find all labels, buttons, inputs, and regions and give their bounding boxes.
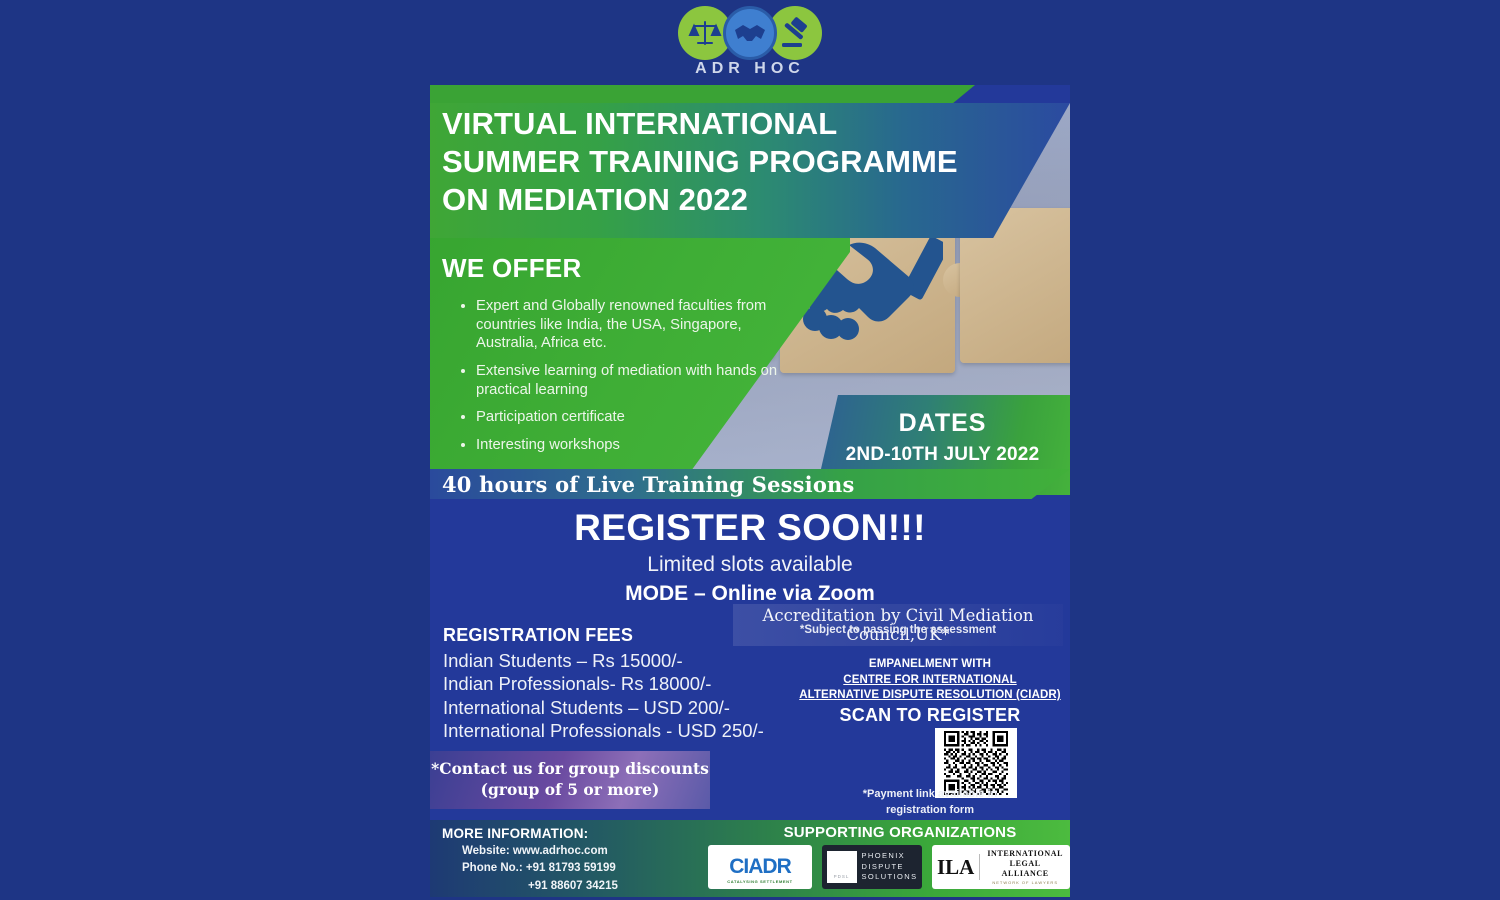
ciadr-tagline: CATALYSING SETTLEMENT <box>712 879 808 884</box>
empanelment-line-3: ALTERNATIVE DISPUTE RESOLUTION (CIADR) <box>790 688 1070 704</box>
dates-value: 2ND-10TH JULY 2022 <box>815 444 1070 466</box>
mode-text: MODE – Online via Zoom <box>430 582 1070 606</box>
discount-line-1: *Contact us for group discounts <box>430 759 710 780</box>
payment-note-line-2: registration form <box>790 803 1070 819</box>
fee-row: International Professionals - USD 250/- <box>443 719 803 742</box>
email-line[interactable]: E-mail: adrhocevents@gmail.com <box>462 895 722 897</box>
list-item: Interesting workshops <box>476 436 806 455</box>
title-line-3: ON MEDIATION 2022 <box>442 181 1042 219</box>
scan-to-register-heading: SCAN TO REGISTER <box>790 705 1070 726</box>
limited-slots-text: Limited slots available <box>430 553 1070 577</box>
fee-row: Indian Students – Rs 15000/- <box>443 649 803 672</box>
title-line-2: SUMMER TRAINING PROGRAMME <box>442 143 1042 181</box>
more-information-heading: MORE INFORMATION: <box>442 826 588 841</box>
pdsl-text: PDSL <box>834 874 850 883</box>
list-item: Extensive learning of mediation with han… <box>476 362 806 399</box>
phoenix-dispute-solutions-logo: PDSL PHOENIX DISPUTE SOLUTIONS <box>822 845 922 889</box>
offer-bullet-list: Expert and Globally renowned faculties f… <box>454 297 806 463</box>
ciadr-wordmark: CIADR <box>729 855 791 879</box>
divider <box>979 854 980 880</box>
ila-line-3: NETWORK OF LAWYERS <box>985 880 1065 885</box>
ila-wordmark: ILA <box>937 857 974 878</box>
list-item: Expert and Globally renowned faculties f… <box>476 297 806 353</box>
we-offer-heading: WE OFFER <box>442 253 582 284</box>
payment-link-note: *Payment link available in registration … <box>790 787 1070 819</box>
ciadr-logo: CIADR CATALYSING SETTLEMENT <box>708 845 812 889</box>
contact-details: Website: www.adrhoc.com Phone No.: +91 8… <box>462 843 722 897</box>
page-title: VIRTUAL INTERNATIONAL SUMMER TRAINING PR… <box>442 105 1042 218</box>
hours-banner-text: 40 hours of Live Training Sessions <box>442 472 855 497</box>
poster-body: VIRTUAL INTERNATIONAL SUMMER TRAINING PR… <box>430 85 1070 897</box>
group-discount-box: *Contact us for group discounts (group o… <box>430 751 710 809</box>
phoenix-line-3: SOLUTIONS <box>862 872 918 883</box>
fee-row: International Students – USD 200/- <box>443 696 803 719</box>
handshake-icon <box>723 6 777 60</box>
ila-line-2: LEGAL ALLIANCE <box>985 859 1065 879</box>
top-green-accent <box>430 85 975 103</box>
supporting-logos: CIADR CATALYSING SETTLEMENT PDSL PHOENIX… <box>708 845 1070 889</box>
pdsl-mark: PDSL <box>827 851 857 883</box>
logo-circles <box>676 4 824 62</box>
dates-heading: DATES <box>815 409 1070 438</box>
supporting-organizations-heading: SUPPORTING ORGANIZATIONS <box>730 824 1070 841</box>
phone-line-2: +91 88607 34215 <box>462 878 618 895</box>
list-item: Participation certificate <box>476 408 806 427</box>
ila-name-block: INTERNATIONAL LEGAL ALLIANCE NETWORK OF … <box>985 849 1065 885</box>
website-line[interactable]: Website: www.adrhoc.com <box>462 843 722 860</box>
empanelment-line-1: EMPANELMENT WITH <box>790 657 1070 673</box>
phoenix-wordmark: PHOENIX DISPUTE SOLUTIONS <box>862 851 918 884</box>
logo-wordmark: ADR HOC <box>676 60 824 78</box>
registration-fees-list: Indian Students – Rs 15000/- Indian Prof… <box>443 649 803 742</box>
phoenix-line-1: PHOENIX <box>862 851 918 862</box>
empanelment-line-2: CENTRE FOR INTERNATIONAL <box>790 673 1070 689</box>
register-headline: REGISTER SOON!!! <box>430 507 1070 549</box>
accreditation-note: *Subject to passing the assessment <box>733 624 1063 636</box>
registration-fees-heading: REGISTRATION FEES <box>443 625 633 646</box>
discount-line-2: (group of 5 or more) <box>430 780 710 801</box>
poster-canvas: ADR HOC <box>0 0 1500 900</box>
phoenix-line-2: DISPUTE <box>862 862 918 873</box>
empanelment-block: EMPANELMENT WITH CENTRE FOR INTERNATIONA… <box>790 657 1070 704</box>
international-legal-alliance-logo: ILA INTERNATIONAL LEGAL ALLIANCE NETWORK… <box>932 845 1070 889</box>
phone-line-1: Phone No.: +91 81793 59199 <box>462 860 722 877</box>
fee-row: Indian Professionals- Rs 18000/- <box>443 672 803 695</box>
adrhoc-logo: ADR HOC <box>676 4 824 82</box>
payment-note-line-1: *Payment link available in <box>790 787 1070 803</box>
ila-line-1: INTERNATIONAL <box>985 849 1065 859</box>
title-line-1: VIRTUAL INTERNATIONAL <box>442 105 1042 143</box>
